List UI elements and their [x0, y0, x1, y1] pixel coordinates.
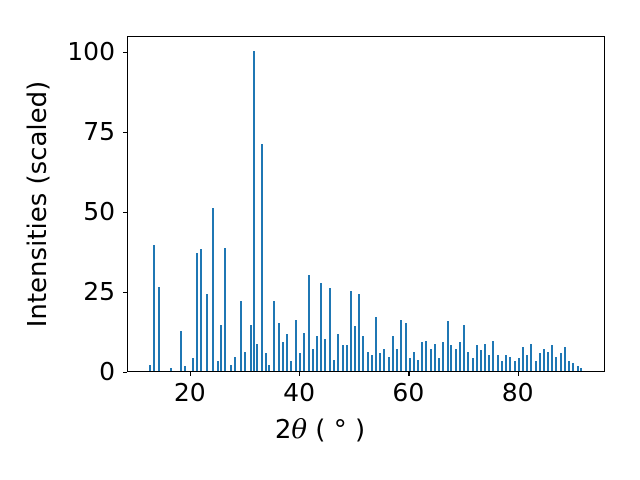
x-tick-mark	[299, 372, 300, 376]
bar	[244, 352, 246, 371]
bar	[312, 349, 314, 371]
bar	[480, 350, 482, 371]
bar	[286, 334, 288, 371]
plot-area	[127, 36, 605, 372]
bar	[192, 358, 194, 371]
y-tick-mark	[123, 212, 127, 213]
bar	[303, 333, 305, 371]
bar	[530, 344, 532, 371]
bar	[459, 342, 461, 371]
y-tick-mark	[123, 292, 127, 293]
bar	[413, 352, 415, 371]
bar	[509, 357, 511, 371]
bar	[580, 368, 582, 371]
bar	[505, 355, 507, 371]
bar	[346, 345, 348, 371]
bar	[447, 321, 449, 371]
bar	[383, 349, 385, 371]
bar	[430, 349, 432, 371]
bar	[539, 353, 541, 371]
x-tick-label: 40	[283, 380, 315, 405]
bar	[358, 294, 360, 371]
bar	[577, 366, 579, 371]
y-tick-mark	[123, 52, 127, 53]
bar	[212, 208, 214, 371]
bar	[196, 253, 198, 371]
bar	[392, 336, 394, 371]
bar	[564, 347, 566, 371]
bar	[170, 368, 172, 371]
bar	[547, 352, 549, 371]
bar	[484, 344, 486, 371]
bar	[535, 361, 537, 371]
xrd-figure: 0255075100 20406080 2θ ( ° ) Intensities…	[0, 0, 640, 480]
bar	[405, 323, 407, 371]
bar	[230, 365, 232, 371]
bar	[467, 352, 469, 371]
bar	[158, 287, 160, 371]
bar	[224, 248, 226, 371]
x-axis-label-text: 2θ ( ° )	[275, 415, 365, 445]
bar	[409, 358, 411, 371]
bar	[497, 355, 499, 371]
bar	[526, 355, 528, 371]
bar	[299, 353, 301, 371]
bar	[278, 323, 280, 371]
bar	[463, 325, 465, 371]
bar	[555, 357, 557, 371]
bar	[261, 144, 263, 371]
x-axis-label: 2θ ( ° )	[0, 415, 640, 445]
bar	[551, 345, 553, 371]
bar	[149, 365, 151, 371]
bar	[455, 349, 457, 371]
bar	[337, 334, 339, 371]
bar	[488, 355, 490, 371]
bar	[308, 275, 310, 371]
bar	[514, 361, 516, 371]
bar	[180, 331, 182, 371]
bar	[320, 283, 322, 371]
bar	[367, 352, 369, 371]
bar	[501, 361, 503, 371]
x-tick-label: 60	[392, 380, 424, 405]
bar	[371, 355, 373, 371]
bar	[282, 342, 284, 371]
bar	[450, 345, 452, 371]
x-tick-mark	[408, 372, 409, 376]
bar	[438, 358, 440, 371]
bar	[396, 349, 398, 371]
bar	[375, 317, 377, 371]
bar	[543, 349, 545, 371]
bar	[472, 358, 474, 371]
bar	[253, 51, 255, 371]
bar	[265, 353, 267, 371]
bar	[572, 363, 574, 371]
bar	[388, 357, 390, 371]
bar	[442, 342, 444, 371]
bar	[256, 344, 258, 371]
bar	[342, 345, 344, 371]
bar	[240, 301, 242, 371]
bar	[492, 341, 494, 371]
x-tick-label: 80	[502, 380, 534, 405]
bar	[350, 291, 352, 371]
bar	[250, 325, 252, 371]
bar	[206, 294, 208, 371]
bar	[153, 245, 155, 371]
bar	[268, 365, 270, 371]
bar	[273, 301, 275, 371]
bar	[295, 320, 297, 371]
bar	[560, 353, 562, 371]
bar	[362, 336, 364, 371]
bar	[379, 353, 381, 371]
bar	[417, 360, 419, 371]
bar	[476, 345, 478, 371]
bar	[184, 366, 186, 371]
bar	[234, 357, 236, 371]
bar	[421, 342, 423, 371]
bars-layer	[128, 37, 604, 371]
y-axis-label: Intensities (scaled)	[18, 36, 58, 372]
x-tick-mark	[190, 372, 191, 376]
bar	[518, 358, 520, 371]
bar	[329, 288, 331, 371]
y-tick-mark	[123, 372, 127, 373]
bar	[354, 326, 356, 371]
bar	[434, 344, 436, 371]
x-tick-mark	[518, 372, 519, 376]
bar	[324, 339, 326, 371]
bar	[568, 361, 570, 371]
bar	[400, 320, 402, 371]
bar	[200, 249, 202, 371]
bar	[217, 361, 219, 371]
bar	[333, 360, 335, 371]
bar	[316, 336, 318, 371]
bar	[290, 361, 292, 371]
bar	[522, 347, 524, 371]
y-tick-mark	[123, 132, 127, 133]
x-tick-label: 20	[174, 380, 206, 405]
bar	[220, 325, 222, 371]
bar	[425, 341, 427, 371]
